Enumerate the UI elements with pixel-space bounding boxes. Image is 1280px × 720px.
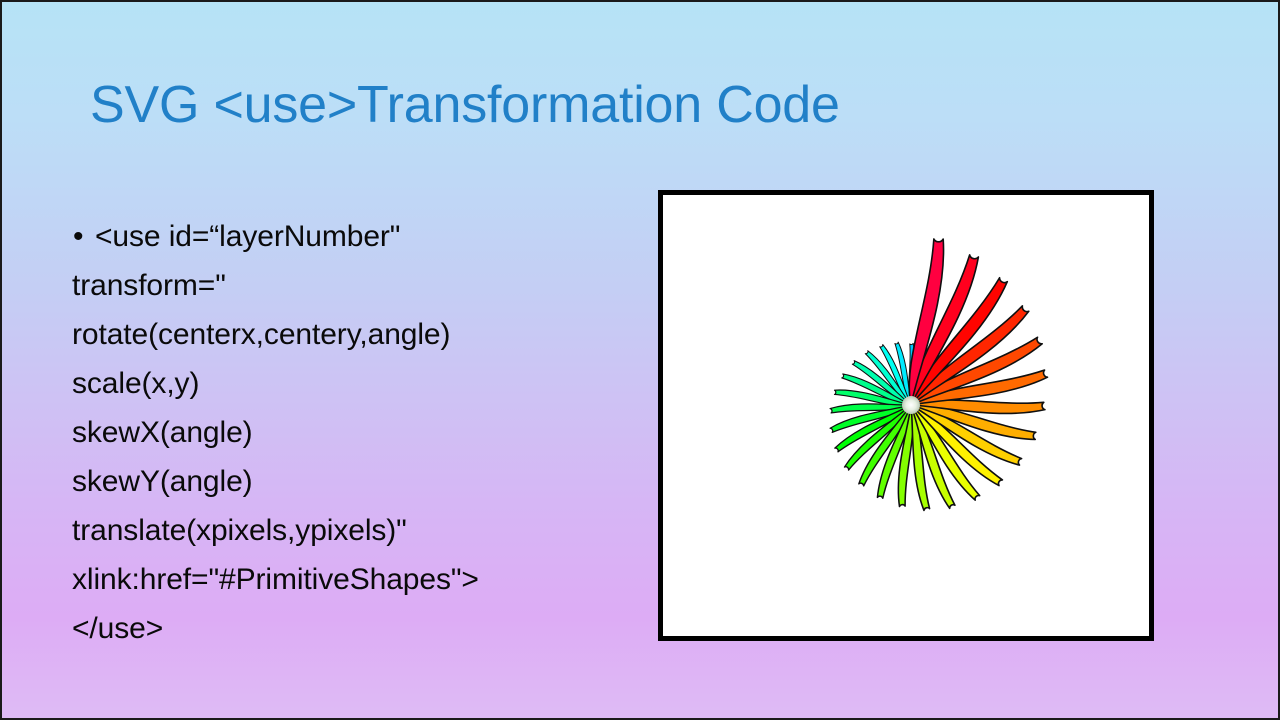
body-line-text: rotate(centerx,centery,angle) [72, 318, 450, 351]
spiral-core [902, 396, 920, 414]
body-line: translate(xpixels,ypixels)" [72, 506, 632, 555]
body-line: •<use id=“layerNumber" [72, 212, 632, 261]
picture-frame [658, 190, 1154, 641]
body-line: xlink:href="#PrimitiveShapes"> [72, 555, 632, 604]
slide-canvas: SVG <use>Transformation Code •<use id=“l… [0, 0, 1280, 720]
body-line: transform=" [72, 261, 632, 310]
body-line-text: xlink:href="#PrimitiveShapes"> [72, 563, 479, 596]
body-line-text: skewY(angle) [72, 465, 253, 498]
body-line-text: translate(xpixels,ypixels)" [72, 514, 407, 547]
body-line-text: transform=" [72, 269, 226, 302]
body-line: scale(x,y) [72, 359, 632, 408]
body-text-block: •<use id=“layerNumber"transform="rotate(… [72, 212, 632, 653]
body-line: </use> [72, 604, 632, 653]
body-line-text: </use> [72, 612, 163, 645]
spiral-pinwheel-illustration [663, 195, 1149, 636]
body-line-text: <use id=“layerNumber" [95, 220, 400, 253]
bullet-icon: • [73, 212, 83, 261]
body-line-text: skewX(angle) [72, 416, 253, 449]
body-line: rotate(centerx,centery,angle) [72, 310, 632, 359]
body-line-text: scale(x,y) [72, 367, 199, 400]
body-line: skewX(angle) [72, 408, 632, 457]
body-line: skewY(angle) [72, 457, 632, 506]
page-title: SVG <use>Transformation Code [90, 74, 1090, 136]
